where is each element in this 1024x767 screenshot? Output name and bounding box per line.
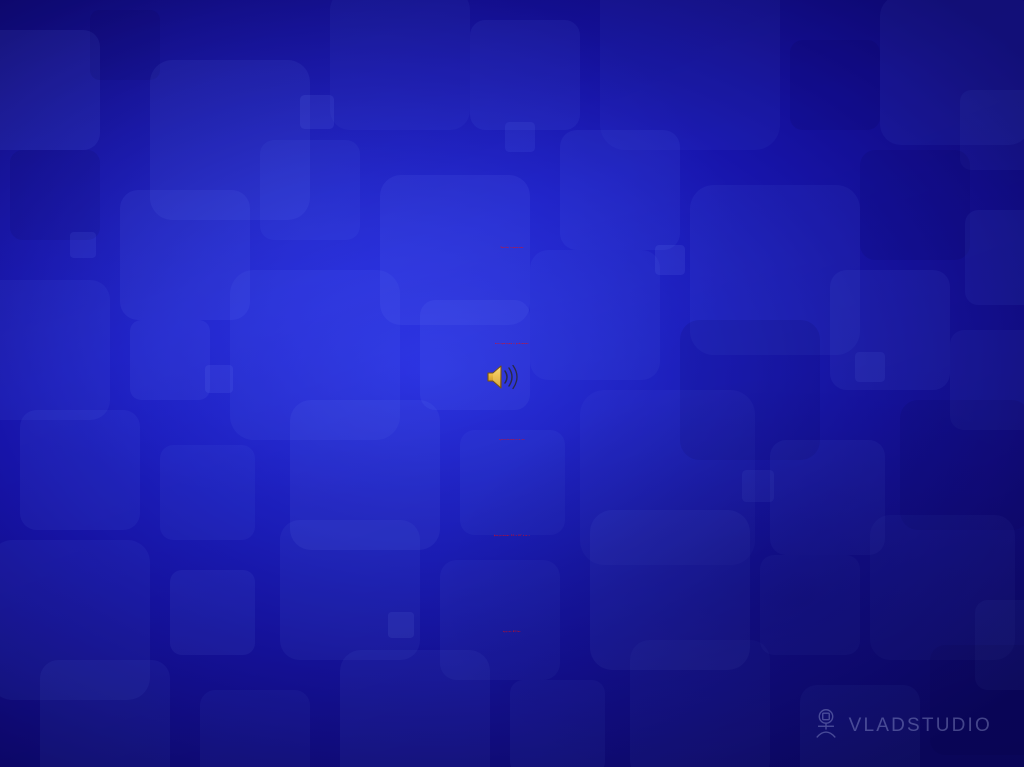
body-line-1: Чтобы защитить (0, 200, 1024, 296)
vladstudio-watermark: VLADSTUDIO (812, 708, 992, 743)
body-line-3: преподавателем на (0, 392, 1024, 488)
body-line-4: факультете РФ и КТ или в (0, 488, 1024, 584)
presentation-slide: Почему Вы должны пойти учиться на кафедр… (0, 0, 1024, 767)
vladstudio-logo-icon (812, 708, 840, 743)
speaker-audio-icon[interactable] (484, 361, 524, 393)
title-line-1: Почему Вы должны пойти учиться (0, 0, 1024, 60)
background-square (200, 690, 310, 767)
title-line-2: на кафедру квантовой радиофизики? (0, 60, 1024, 124)
slide-body: Чтобы защитить диссертацию и работать пр… (0, 200, 1024, 680)
watermark-label: VLADSTUDIO (849, 715, 992, 737)
body-line-5: других ВУЗах (0, 584, 1024, 680)
slide-title: Почему Вы должны пойти учиться на кафедр… (0, 0, 1024, 124)
background-square (505, 122, 535, 152)
background-square (510, 680, 605, 767)
